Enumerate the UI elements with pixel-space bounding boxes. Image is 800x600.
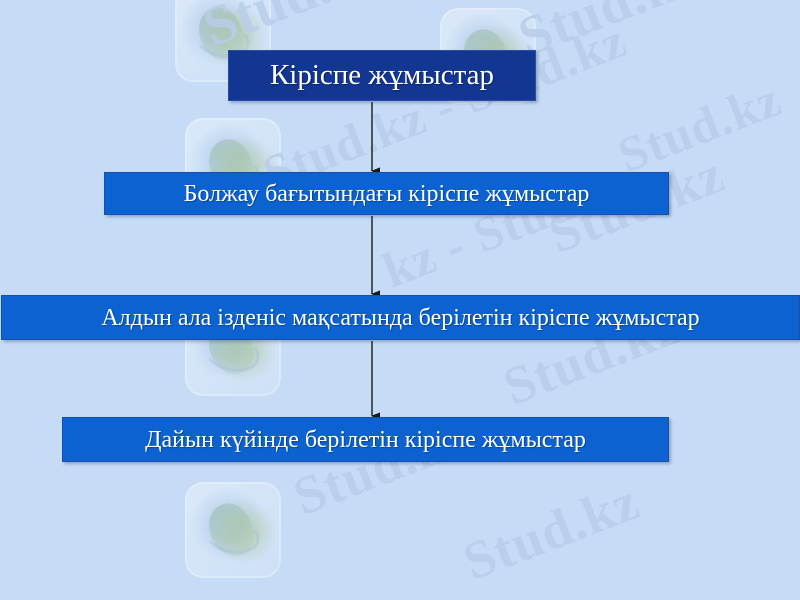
flow-node-forecast-label: Болжау бағытындағы кіріспе жұмыстар <box>184 182 590 206</box>
flow-node-ready-state-label: Дайын күйінде берілетін кіріспе жұмыстар <box>145 428 586 452</box>
flow-node-ready-state[interactable]: Дайын күйінде берілетін кіріспе жұмыстар <box>62 417 669 462</box>
flow-node-preliminary-search[interactable]: Алдын ала ізденіс мақсатында берілетін к… <box>1 295 800 340</box>
slide-canvas: Stud.kzStud.kzStud.kz - Stud.kzStud.kzkz… <box>0 0 800 600</box>
flow-node-title-label: Кіріспе жұмыстар <box>270 61 494 90</box>
flowchart: Кіріспе жұмыстар Болжау бағытындағы кірі… <box>0 0 800 600</box>
flow-node-preliminary-search-label: Алдын ала ізденіс мақсатында берілетін к… <box>101 306 699 330</box>
flow-node-forecast[interactable]: Болжау бағытындағы кіріспе жұмыстар <box>104 172 669 215</box>
flow-node-title[interactable]: Кіріспе жұмыстар <box>228 50 536 101</box>
